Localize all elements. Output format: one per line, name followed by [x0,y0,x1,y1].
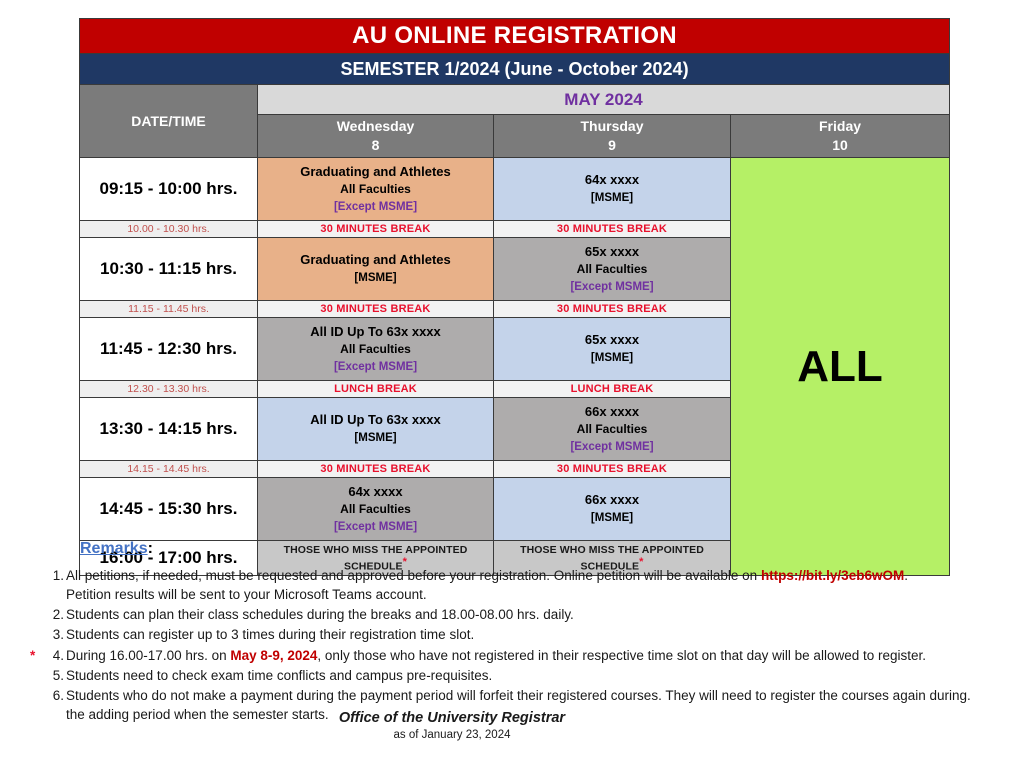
as-of-date: as of January 23, 2024 [0,729,1024,741]
day-name-friday: Friday [819,118,861,134]
day-name-wednesday: Wednesday [337,118,415,134]
header-row-month: DATE/TIME MAY 2024 [80,85,950,115]
list-item: 1. All petitions, if needed, must be req… [30,566,1015,604]
time-slot-label: 14:45 - 15:30 hrs. [80,478,258,541]
slot-line1: All ID Up To 63x xxxx [258,411,493,430]
day-header-thursday: Thursday 9 [494,115,731,158]
break-time-label: 10.00 - 10.30 hrs. [80,221,258,238]
break-time-label: 12.30 - 13.30 hrs. [80,381,258,398]
remark-text-b: , only those who have not registered in … [317,648,926,663]
slot-wed-0915: Graduating and Athletes All Faculties [E… [258,158,494,221]
day-number-thursday: 9 [494,136,730,155]
break-label-thu: 30 MINUTES BREAK [494,461,731,478]
slot-line2: All Faculties [258,501,493,518]
remark-number: 3. [40,625,64,644]
slot-wed-1145: All ID Up To 63x xxxx All Faculties [Exc… [258,318,494,381]
day-header-friday: Friday 10 [731,115,950,158]
remark-text-a: Students need to check exam time conflic… [66,668,492,683]
slot-line2: All Faculties [258,181,493,198]
slot-line3: [MSME] [494,190,730,207]
slot-line2: All Faculties [258,341,493,358]
friday-all-cell: ALL [731,158,950,576]
slot-line2: All Faculties [494,421,730,438]
remark-number: 4. [40,646,64,665]
remark-text-a: All petitions, if needed, must be reques… [66,568,761,583]
day-number-friday: 10 [731,136,949,155]
slot-thu-1145: 65x xxxx [MSME] [494,318,731,381]
petition-link[interactable]: https://bit.ly/3eb6wOM [761,568,904,583]
slot-line3: [MSME] [494,510,730,527]
remarks-heading-colon: : [148,540,153,557]
remarks-section: Remarks: 1. All petitions, if needed, mu… [30,540,1015,725]
month-header: MAY 2024 [258,85,950,115]
slot-thu-1330: 66x xxxx All Faculties [Except MSME] [494,398,731,461]
slot-line2: All Faculties [494,261,730,278]
time-slot-label: 10:30 - 11:15 hrs. [80,238,258,301]
registration-schedule-page: AU ONLINE REGISTRATION SEMESTER 1/2024 (… [0,0,1024,777]
slot-line1: All ID Up To 63x xxxx [258,323,493,342]
slot-line1: 65x xxxx [494,243,730,262]
main-title: AU ONLINE REGISTRATION [80,19,950,54]
break-time-label: 11.15 - 11.45 hrs. [80,301,258,318]
time-slot-label: 11:45 - 12:30 hrs. [80,318,258,381]
time-slot-label: 13:30 - 14:15 hrs. [80,398,258,461]
break-label-wed: LUNCH BREAK [258,381,494,398]
remarks-list: 1. All petitions, if needed, must be req… [30,566,1015,724]
remark-text-a: Students can register up to 3 times duri… [66,627,474,642]
break-time-label: 14.15 - 14.45 hrs. [80,461,258,478]
slot-wed-1030: Graduating and Athletes [MSME] [258,238,494,301]
day-header-wednesday: Wednesday 8 [258,115,494,158]
list-item: * 4. During 16.00-17.00 hrs. on May 8-9,… [30,646,1015,665]
break-label-thu: LUNCH BREAK [494,381,731,398]
slot-thu-1445: 66x xxxx [MSME] [494,478,731,541]
footer-signature: Office of the University Registrar as of… [0,710,1024,741]
slot-wed-1445: 64x xxxx All Faculties [Except MSME] [258,478,494,541]
time-slot-label: 09:15 - 10:00 hrs. [80,158,258,221]
remark-star: * [30,646,35,665]
slot-line1: Graduating and Athletes [258,251,493,270]
list-item: 5. Students need to check exam time conf… [30,666,1015,685]
slot-line3: [Except MSME] [494,279,730,296]
list-item: 3. Students can register up to 3 times d… [30,625,1015,644]
semester-subtitle: SEMESTER 1/2024 (June - October 2024) [80,54,950,85]
day-name-thursday: Thursday [580,118,643,134]
remark-text-a: During 16.00-17.00 hrs. on [66,648,230,663]
break-label-wed: 30 MINUTES BREAK [258,461,494,478]
slot-thu-1030: 65x xxxx All Faculties [Except MSME] [494,238,731,301]
remark-number: 5. [40,666,64,685]
remark-number: 6. [40,686,64,705]
remark-number: 2. [40,605,64,624]
slot-line1: 64x xxxx [258,483,493,502]
break-label-wed: 30 MINUTES BREAK [258,301,494,318]
slot-line1: 64x xxxx [494,171,730,190]
table-row: 09:15 - 10:00 hrs. Graduating and Athlet… [80,158,950,221]
slot-line1: 65x xxxx [494,331,730,350]
banner-row-semester: SEMESTER 1/2024 (June - October 2024) [80,54,950,85]
date-time-header: DATE/TIME [80,85,258,158]
slot-line1: 66x xxxx [494,403,730,422]
slot-line3: [MSME] [258,270,493,287]
list-item: 2. Students can plan their class schedul… [30,605,1015,624]
slot-line3: [Except MSME] [258,199,493,216]
registration-schedule-table: AU ONLINE REGISTRATION SEMESTER 1/2024 (… [79,18,950,576]
slot-line1: Graduating and Athletes [258,163,493,182]
remark-text-a: Students can plan their class schedules … [66,607,574,622]
office-name: Office of the University Registrar [0,710,1024,726]
remark-continuation: Petition results will be sent to your Mi… [66,585,1015,604]
break-label-wed: 30 MINUTES BREAK [258,221,494,238]
slot-line3: [MSME] [258,430,493,447]
slot-wed-1330: All ID Up To 63x xxxx [MSME] [258,398,494,461]
slot-line3: [Except MSME] [494,439,730,456]
remarks-heading: Remarks: [80,540,1015,558]
slot-line3: [Except MSME] [258,359,493,376]
remark-highlight-date: May 8-9, 2024 [230,648,317,663]
banner-row-title: AU ONLINE REGISTRATION [80,19,950,54]
slot-thu-0915: 64x xxxx [MSME] [494,158,731,221]
remarks-heading-word: Remarks [80,540,148,557]
break-label-thu: 30 MINUTES BREAK [494,221,731,238]
remark-text-a: Students who do not make a payment durin… [66,688,971,703]
slot-line3: [Except MSME] [258,519,493,536]
slot-line3: [MSME] [494,350,730,367]
remark-text-b: . [904,568,908,583]
day-number-wednesday: 8 [258,136,493,155]
slot-line1: 66x xxxx [494,491,730,510]
remark-number: 1. [40,566,64,585]
break-label-thu: 30 MINUTES BREAK [494,301,731,318]
schedule-table-container: AU ONLINE REGISTRATION SEMESTER 1/2024 (… [79,18,949,576]
